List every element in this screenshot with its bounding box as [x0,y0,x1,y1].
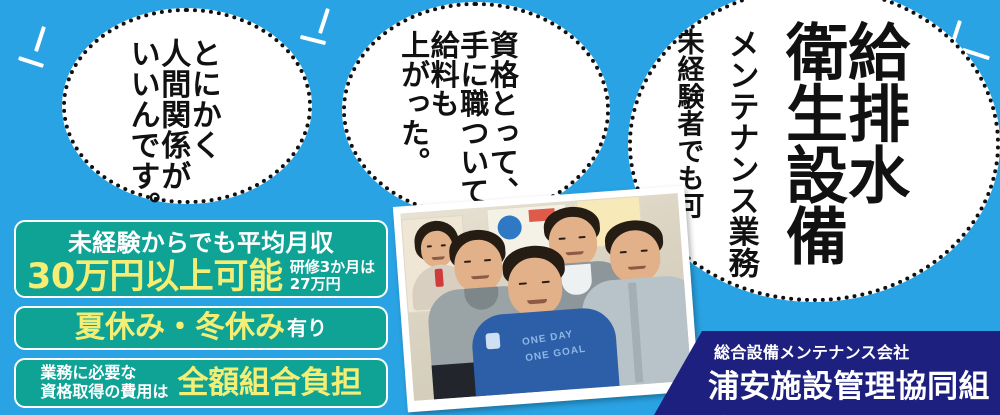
benefit-holiday-highlight: 夏休み・冬休み [75,313,285,343]
benefit-salary-amount: 30万円以上可能 [27,260,283,295]
team-photo: ONE DAY ONE GOAL [393,186,699,413]
benefit-qualification-highlight: 全額組合負担 [177,368,361,399]
benefit-qualification-lead: 業務に必要な 資格取得の費用は [40,364,168,402]
testimonial-text-2: 資格とって、 手に職ついて 給料も 上がった。 [398,30,516,200]
sparkle-dash-icon [34,26,46,52]
benefit-holiday-suffix: 有り [287,318,327,338]
testimonial-bubble-1: とにかく 人間関係が いいんです。 [62,8,312,204]
benefit-holiday: 夏休み・冬休み 有り [14,306,388,350]
shirt-logo-icon [485,333,500,350]
company-name: 浦安施設管理協同組合 [708,361,1000,415]
benefit-salary-row: 30万円以上可能 研修3か月は 27万円 [27,259,375,296]
benefit-qualification: 業務に必要な 資格取得の費用は 全額組合負担 [14,358,388,408]
company-type: 総合設備メンテナンス会社 [714,339,910,363]
benefit-salary-note: 研修3か月は 27万円 [290,259,375,296]
sparkle-dash-icon [300,35,326,45]
sparkle-dash-icon [18,56,44,68]
benefit-salary: 未経験からでも平均月収 30万円以上可能 研修3か月は 27万円 [14,220,388,298]
testimonial-text-1: とにかく 人間関係が いいんです。 [126,38,218,188]
team-photo-image: ONE DAY ONE GOAL [400,193,691,401]
headline-sub1: メンテナンス業務 [724,28,756,266]
person-front-center: ONE DAY ONE GOAL [475,241,610,401]
page-title: 給排水 衛生設備 [780,20,904,270]
sparkle-dash-icon [318,8,330,34]
job-ad-banner: とにかく 人間関係が いいんです。 資格とって、 手に職ついて 給料も 上がった… [0,0,1000,415]
benefit-salary-lead: 未経験からでも平均月収 [68,223,334,258]
testimonial-bubble-2: 資格とって、 手に職ついて 給料も 上がった。 [342,2,610,218]
